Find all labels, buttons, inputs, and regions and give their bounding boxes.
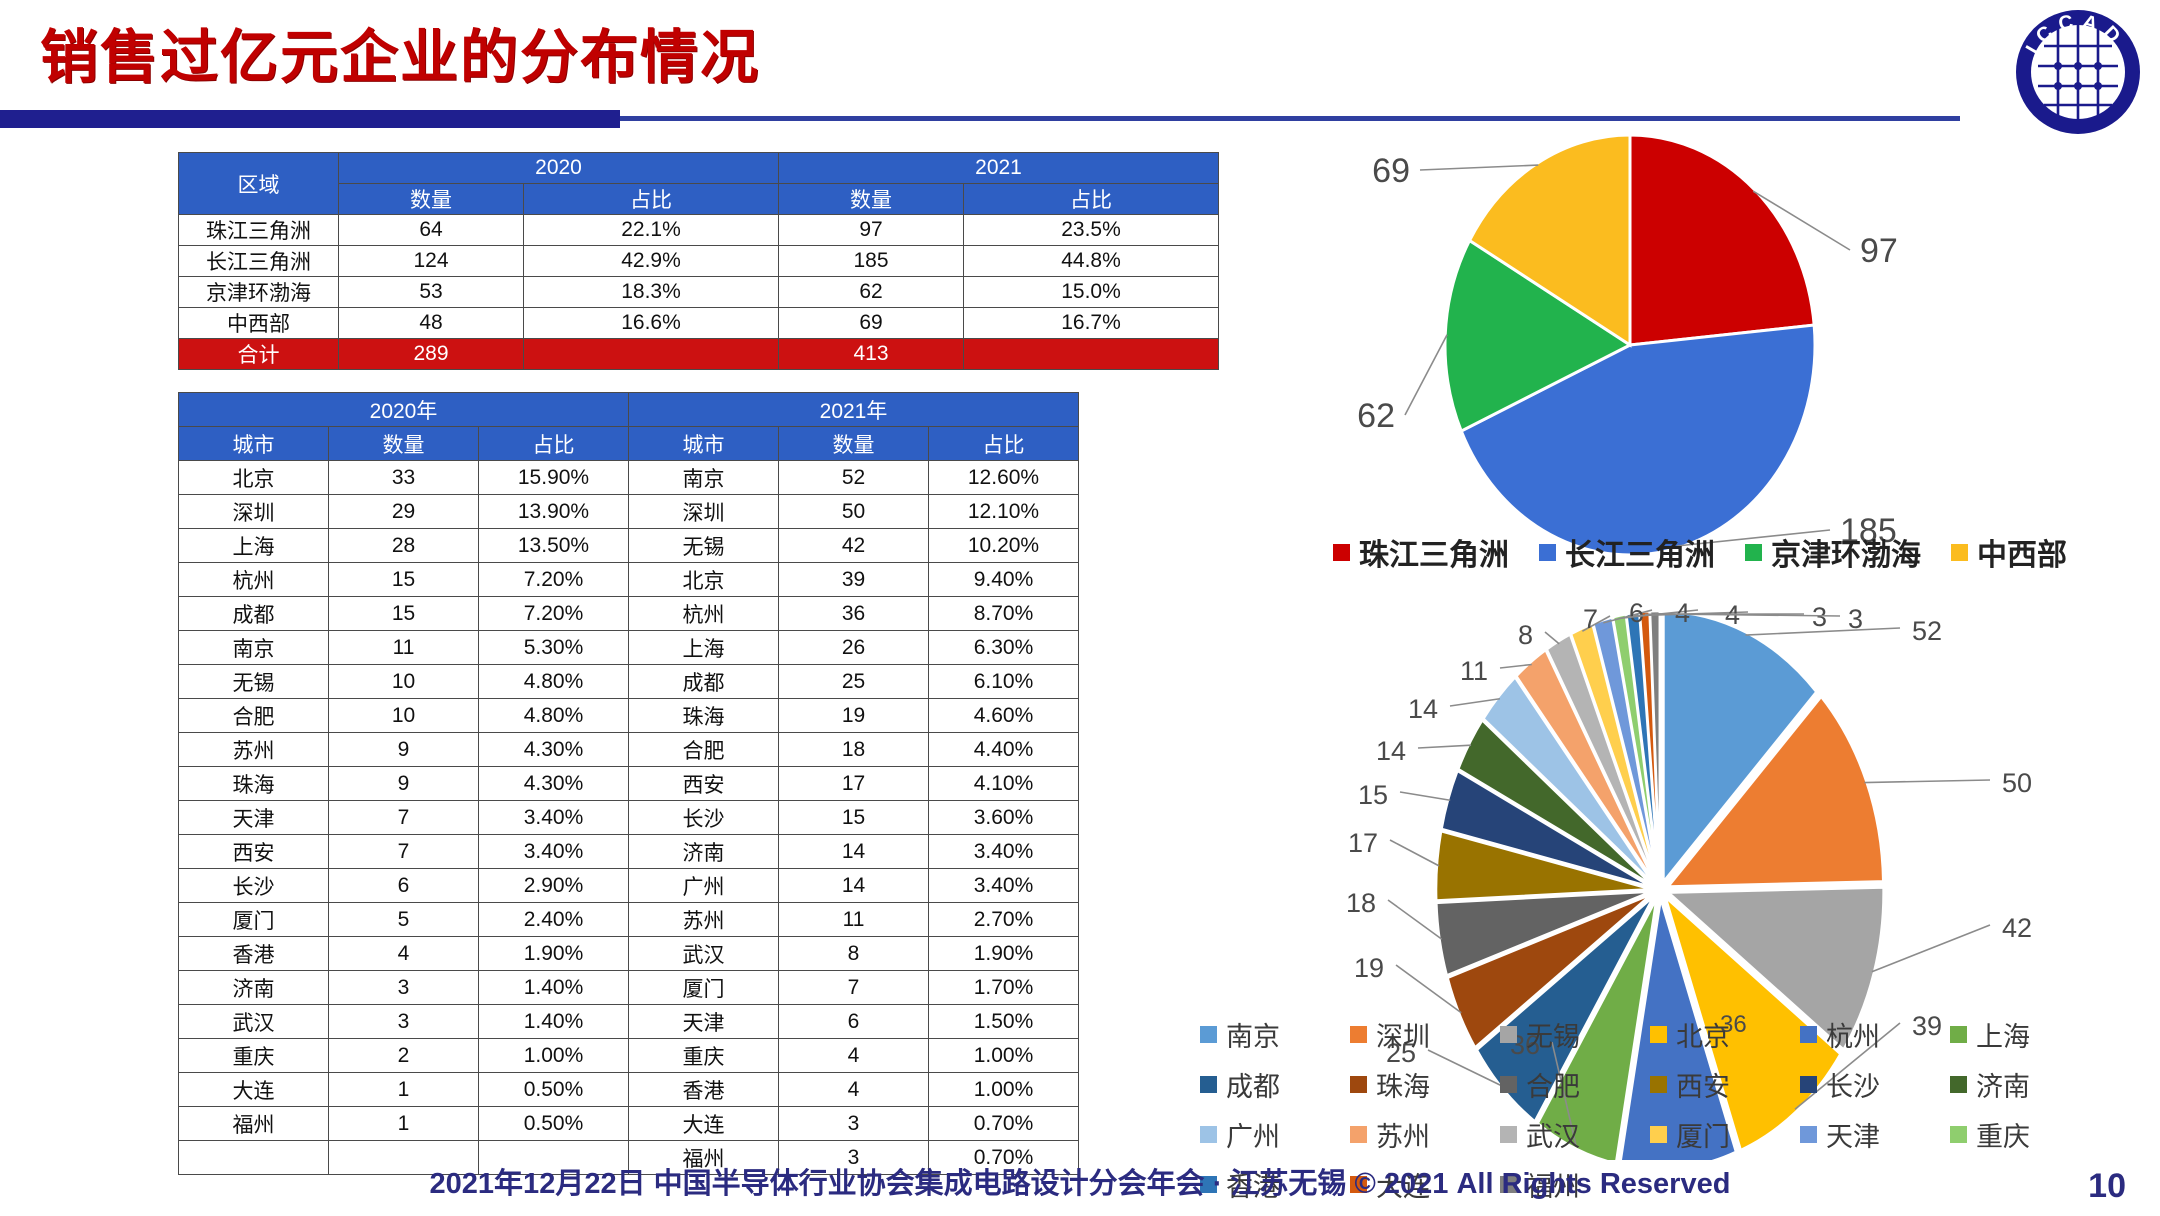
cell-pct20: 13.50% <box>479 529 629 563</box>
cell-pct20: 7.20% <box>479 563 629 597</box>
cell-pct21: 1.50% <box>929 1005 1079 1039</box>
th-count-2021: 数量 <box>779 184 964 215</box>
pie-value-label: 4 <box>1675 598 1690 628</box>
legend-label: 无锡 <box>1526 1015 1580 1054</box>
pie-value-label: 18 <box>1346 888 1376 918</box>
cell-p2021: 15.0% <box>964 277 1219 308</box>
cell-pct20: 15.90% <box>479 461 629 495</box>
cell-city21: 北京 <box>629 563 779 597</box>
table-row: 济南31.40%厦门71.70% <box>179 971 1079 1005</box>
cell-region: 长江三角洲 <box>179 246 339 277</box>
cell-num20: 3 <box>329 1005 479 1039</box>
pie-slice <box>1630 135 1814 345</box>
th-share-2021: 占比 <box>964 184 1219 215</box>
table-row: 合肥104.80%珠海194.60% <box>179 699 1079 733</box>
cell-city20: 杭州 <box>179 563 329 597</box>
th-2021-year: 2021年 <box>629 393 1079 427</box>
cell-city20: 厦门 <box>179 903 329 937</box>
table-row: 长沙62.90%广州143.40% <box>179 869 1079 903</box>
cell-city21: 天津 <box>629 1005 779 1039</box>
cell-city21: 无锡 <box>629 529 779 563</box>
cell-city20: 福州 <box>179 1107 329 1141</box>
cell-p2021: 23.5% <box>964 215 1219 246</box>
legend-label: 合肥 <box>1526 1065 1580 1104</box>
legend-swatch-icon <box>1350 1126 1367 1143</box>
cell-num20: 6 <box>329 869 479 903</box>
legend-swatch-icon <box>1800 1026 1817 1043</box>
table-row: 重庆21.00%重庆41.00% <box>179 1039 1079 1073</box>
city-distribution-table: 2020年 2021年 城市 数量 占比 城市 数量 占比 北京3315.90%… <box>178 392 1079 1175</box>
cell-c2020: 124 <box>339 246 524 277</box>
pie-value-label: 19 <box>1354 953 1384 983</box>
cell-c2021: 97 <box>779 215 964 246</box>
cell-pct21: 6.10% <box>929 665 1079 699</box>
cell-pct21: 10.20% <box>929 529 1079 563</box>
cell-city20: 武汉 <box>179 1005 329 1039</box>
cell-city21: 香港 <box>629 1073 779 1107</box>
cell-num20: 5 <box>329 903 479 937</box>
cell-pct21: 12.60% <box>929 461 1079 495</box>
legend-label: 中西部 <box>1977 530 2067 574</box>
legend-label: 南京 <box>1226 1015 1280 1054</box>
cell-city21: 杭州 <box>629 597 779 631</box>
cell-num20: 3 <box>329 971 479 1005</box>
table-row: 苏州94.30%合肥184.40% <box>179 733 1079 767</box>
legend-label: 长沙 <box>1826 1065 1880 1104</box>
legend-swatch-icon <box>1500 1076 1517 1093</box>
cell-num20: 11 <box>329 631 479 665</box>
region-legend-item: 京津环渤海 <box>1745 530 1921 574</box>
city-legend-item: 西安 <box>1650 1065 1774 1104</box>
region-pie-legend: 珠江三角洲长江三角洲京津环渤海中西部 <box>1250 530 2150 574</box>
legend-swatch-icon <box>1950 1076 1967 1093</box>
total-c2020: 289 <box>339 339 524 370</box>
city-legend-item: 重庆 <box>1950 1115 2074 1154</box>
legend-swatch-icon <box>1350 1026 1367 1043</box>
cell-city21: 合肥 <box>629 733 779 767</box>
pie-leader-line <box>1405 335 1447 415</box>
region-legend-item: 珠江三角洲 <box>1333 530 1509 574</box>
pie-value-label: 69 <box>1372 152 1410 190</box>
table-row: 大连10.50%香港41.00% <box>179 1073 1079 1107</box>
cell-c2020: 64 <box>339 215 524 246</box>
cell-num21: 8 <box>779 937 929 971</box>
pie-value-label: 11 <box>1460 656 1488 686</box>
pie-value-label: 17 <box>1348 828 1378 858</box>
cell-num21: 14 <box>779 869 929 903</box>
city-legend-item: 济南 <box>1950 1065 2074 1104</box>
table-row: 成都157.20%杭州368.70% <box>179 597 1079 631</box>
cell-region: 珠江三角洲 <box>179 215 339 246</box>
cell-pct21: 1.90% <box>929 937 1079 971</box>
cell-num21: 11 <box>779 903 929 937</box>
cell-city21: 苏州 <box>629 903 779 937</box>
legend-swatch-icon <box>1200 1126 1217 1143</box>
cell-city20: 苏州 <box>179 733 329 767</box>
legend-label: 广州 <box>1226 1115 1280 1154</box>
cell-city20: 珠海 <box>179 767 329 801</box>
th-2020: 2020 <box>339 153 779 184</box>
pie-leader-line <box>1418 745 1471 748</box>
cell-city20: 北京 <box>179 461 329 495</box>
table-row: 中西部4816.6%6916.7% <box>179 308 1219 339</box>
pie-value-label: 50 <box>2002 768 2032 798</box>
footer-text: 2021年12月22日 中国半导体行业协会集成电路设计分会年会 · 江苏无锡 ©… <box>0 1160 2160 1202</box>
cell-num21: 14 <box>779 835 929 869</box>
cell-city20: 合肥 <box>179 699 329 733</box>
cell-city21: 成都 <box>629 665 779 699</box>
city-legend-item: 北京 <box>1650 1015 1774 1054</box>
cell-city20: 上海 <box>179 529 329 563</box>
cell-region: 京津环渤海 <box>179 277 339 308</box>
cell-num20: 15 <box>329 563 479 597</box>
city-legend-item: 长沙 <box>1800 1065 1924 1104</box>
th-pct-2020: 占比 <box>479 427 629 461</box>
cell-city21: 济南 <box>629 835 779 869</box>
page-title: 销售过亿元企业的分布情况 <box>40 10 760 94</box>
legend-swatch-icon <box>1950 1126 1967 1143</box>
legend-swatch-icon <box>1951 544 1968 561</box>
cell-pct20: 3.40% <box>479 801 629 835</box>
cell-pct21: 12.10% <box>929 495 1079 529</box>
city-legend-item: 厦门 <box>1650 1115 1774 1154</box>
table-row: 京津环渤海5318.3%6215.0% <box>179 277 1219 308</box>
th-num-2021: 数量 <box>779 427 929 461</box>
cell-pct20: 0.50% <box>479 1073 629 1107</box>
th-pct-2021: 占比 <box>929 427 1079 461</box>
cell-num21: 3 <box>779 1107 929 1141</box>
cell-pct20: 3.40% <box>479 835 629 869</box>
legend-swatch-icon <box>1500 1126 1517 1143</box>
cell-pct21: 1.00% <box>929 1039 1079 1073</box>
cell-pct21: 6.30% <box>929 631 1079 665</box>
city-legend-item: 苏州 <box>1350 1115 1474 1154</box>
pie-leader-line <box>1545 632 1559 644</box>
table-row: 西安73.40%济南143.40% <box>179 835 1079 869</box>
cell-num21: 36 <box>779 597 929 631</box>
legend-label: 珠海 <box>1376 1065 1430 1104</box>
cell-city20: 西安 <box>179 835 329 869</box>
table-row: 厦门52.40%苏州112.70% <box>179 903 1079 937</box>
city-legend-item: 无锡 <box>1500 1015 1624 1054</box>
total-label: 合计 <box>179 339 339 370</box>
table-row: 上海2813.50%无锡4210.20% <box>179 529 1079 563</box>
cell-num21: 39 <box>779 563 929 597</box>
cell-p2020: 18.3% <box>524 277 779 308</box>
cell-num21: 19 <box>779 699 929 733</box>
cell-c2021: 69 <box>779 308 964 339</box>
cell-city21: 广州 <box>629 869 779 903</box>
pie-value-label: 3 <box>1812 602 1827 632</box>
slide-canvas: 销售过亿元企业的分布情况 ICCAD 区域 2020 <box>0 0 2160 1216</box>
th-num-2020: 数量 <box>329 427 479 461</box>
title-underline-thick <box>0 110 620 128</box>
cell-pct20: 4.30% <box>479 733 629 767</box>
legend-label: 成都 <box>1226 1065 1280 1104</box>
cell-city21: 深圳 <box>629 495 779 529</box>
cell-city20: 长沙 <box>179 869 329 903</box>
cell-pct21: 4.60% <box>929 699 1079 733</box>
legend-label: 杭州 <box>1826 1015 1880 1054</box>
table-row: 深圳2913.90%深圳5012.10% <box>179 495 1079 529</box>
legend-label: 重庆 <box>1976 1115 2030 1154</box>
region-distribution-table: 区域 2020 2021 数量 占比 数量 占比 珠江三角洲6422.1%972… <box>178 152 1219 370</box>
city-legend-item: 天津 <box>1800 1115 1924 1154</box>
cell-city21: 珠海 <box>629 699 779 733</box>
legend-swatch-icon <box>1333 544 1350 561</box>
page-number: 10 <box>2088 1167 2126 1206</box>
cell-city21: 厦门 <box>629 971 779 1005</box>
cell-num20: 33 <box>329 461 479 495</box>
legend-label: 长江三角洲 <box>1565 530 1715 574</box>
table-row: 珠江三角洲6422.1%9723.5% <box>179 215 1219 246</box>
cell-pct21: 4.10% <box>929 767 1079 801</box>
cell-city21: 武汉 <box>629 937 779 971</box>
cell-pct20: 5.30% <box>479 631 629 665</box>
cell-num21: 52 <box>779 461 929 495</box>
legend-swatch-icon <box>1650 1126 1667 1143</box>
table-row: 无锡104.80%成都256.10% <box>179 665 1079 699</box>
th-city-2020: 城市 <box>179 427 329 461</box>
cell-p2020: 16.6% <box>524 308 779 339</box>
cell-num21: 7 <box>779 971 929 1005</box>
pie-value-label: 6 <box>1629 598 1644 628</box>
pie-value-label: 15 <box>1358 780 1388 810</box>
th-count-2020: 数量 <box>339 184 524 215</box>
total-c2021: 413 <box>779 339 964 370</box>
cell-pct20: 4.80% <box>479 665 629 699</box>
pie-leader-line <box>1388 900 1442 939</box>
cell-pct20: 0.50% <box>479 1107 629 1141</box>
table-subheader-row: 城市 数量 占比 城市 数量 占比 <box>179 427 1079 461</box>
legend-swatch-icon <box>1950 1026 1967 1043</box>
table-row: 南京115.30%上海266.30% <box>179 631 1079 665</box>
th-share-2020: 占比 <box>524 184 779 215</box>
cell-pct20: 13.90% <box>479 495 629 529</box>
th-city-2021: 城市 <box>629 427 779 461</box>
city-legend-item: 深圳 <box>1350 1015 1474 1054</box>
city-legend-item: 武汉 <box>1500 1115 1624 1154</box>
pie-value-label: 42 <box>2002 913 2032 943</box>
cell-pct20: 1.40% <box>479 1005 629 1039</box>
cell-num20: 9 <box>329 733 479 767</box>
title-underline-thin <box>620 116 1960 121</box>
pie-value-label: 14 <box>1376 736 1406 766</box>
pie-value-label: 97 <box>1860 232 1898 270</box>
city-legend-item: 南京 <box>1200 1015 1324 1054</box>
cell-pct21: 1.00% <box>929 1073 1079 1107</box>
table-total-row: 合计289413 <box>179 339 1219 370</box>
pie-value-label: 3 <box>1848 604 1863 634</box>
legend-label: 北京 <box>1676 1015 1730 1054</box>
cell-p2020: 22.1% <box>524 215 779 246</box>
cell-num21: 4 <box>779 1039 929 1073</box>
cell-num20: 1 <box>329 1073 479 1107</box>
legend-swatch-icon <box>1350 1076 1367 1093</box>
pie-value-label: 52 <box>1912 616 1942 646</box>
cell-num20: 10 <box>329 665 479 699</box>
cell-num21: 17 <box>779 767 929 801</box>
legend-swatch-icon <box>1200 1076 1217 1093</box>
legend-swatch-icon <box>1200 1026 1217 1043</box>
cell-city20: 香港 <box>179 937 329 971</box>
region-pie-chart: 971856269 <box>1230 130 2150 590</box>
legend-label: 厦门 <box>1676 1115 1730 1154</box>
cell-pct20: 2.90% <box>479 869 629 903</box>
th-region: 区域 <box>179 153 339 215</box>
pie-leader-line <box>1420 165 1538 170</box>
cell-city21: 重庆 <box>629 1039 779 1073</box>
cell-city20: 天津 <box>179 801 329 835</box>
total-p2021 <box>964 339 1219 370</box>
cell-pct20: 4.30% <box>479 767 629 801</box>
total-p2020 <box>524 339 779 370</box>
cell-pct20: 1.40% <box>479 971 629 1005</box>
pie-leader-line <box>1400 792 1450 800</box>
cell-city20: 成都 <box>179 597 329 631</box>
cell-num20: 10 <box>329 699 479 733</box>
cell-p2021: 16.7% <box>964 308 1219 339</box>
legend-swatch-icon <box>1800 1126 1817 1143</box>
cell-pct21: 1.70% <box>929 971 1079 1005</box>
legend-label: 深圳 <box>1376 1015 1430 1054</box>
cell-city21: 南京 <box>629 461 779 495</box>
cell-num20: 29 <box>329 495 479 529</box>
table-header-row: 区域 2020 2021 <box>179 153 1219 184</box>
cell-num21: 18 <box>779 733 929 767</box>
city-legend-item: 成都 <box>1200 1065 1324 1104</box>
cell-pct20: 7.20% <box>479 597 629 631</box>
legend-label: 济南 <box>1976 1065 2030 1104</box>
legend-label: 武汉 <box>1526 1115 1580 1154</box>
cell-city21: 西安 <box>629 767 779 801</box>
cell-num21: 42 <box>779 529 929 563</box>
cell-city20: 重庆 <box>179 1039 329 1073</box>
city-legend-item: 上海 <box>1950 1015 2074 1054</box>
cell-num21: 4 <box>779 1073 929 1107</box>
cell-num21: 25 <box>779 665 929 699</box>
cell-c2021: 62 <box>779 277 964 308</box>
pie-value-label: 62 <box>1357 397 1395 435</box>
cell-city20: 南京 <box>179 631 329 665</box>
table-header-row: 2020年 2021年 <box>179 393 1079 427</box>
cell-num21: 15 <box>779 801 929 835</box>
cell-c2020: 48 <box>339 308 524 339</box>
legend-label: 上海 <box>1976 1015 2030 1054</box>
region-legend-item: 中西部 <box>1951 530 2067 574</box>
cell-num21: 50 <box>779 495 929 529</box>
table-row: 北京3315.90%南京5212.60% <box>179 461 1079 495</box>
cell-region: 中西部 <box>179 308 339 339</box>
cell-p2020: 42.9% <box>524 246 779 277</box>
cell-pct20: 2.40% <box>479 903 629 937</box>
cell-pct20: 1.00% <box>479 1039 629 1073</box>
cell-city20: 济南 <box>179 971 329 1005</box>
pie-value-label: 8 <box>1518 620 1533 650</box>
cell-num20: 2 <box>329 1039 479 1073</box>
cell-pct21: 8.70% <box>929 597 1079 631</box>
city-legend-item: 杭州 <box>1800 1015 1924 1054</box>
table-row: 杭州157.20%北京399.40% <box>179 563 1079 597</box>
table-row: 珠海94.30%西安174.10% <box>179 767 1079 801</box>
cell-pct21: 3.40% <box>929 869 1079 903</box>
cell-pct21: 9.40% <box>929 563 1079 597</box>
pie-leader-line <box>1864 780 1990 783</box>
legend-label: 京津环渤海 <box>1771 530 1921 574</box>
cell-num20: 1 <box>329 1107 479 1141</box>
legend-label: 苏州 <box>1376 1115 1430 1154</box>
pie-leader-line <box>1872 925 1990 972</box>
table-row: 长江三角洲12442.9%18544.8% <box>179 246 1219 277</box>
table-row: 天津73.40%长沙153.60% <box>179 801 1079 835</box>
table-row: 香港41.90%武汉81.90% <box>179 937 1079 971</box>
legend-label: 西安 <box>1676 1065 1730 1104</box>
cell-city20: 深圳 <box>179 495 329 529</box>
table-row: 福州10.50%大连30.70% <box>179 1107 1079 1141</box>
legend-swatch-icon <box>1745 544 1762 561</box>
th-2020-year: 2020年 <box>179 393 629 427</box>
cell-num20: 4 <box>329 937 479 971</box>
cell-num20: 9 <box>329 767 479 801</box>
city-legend-item: 广州 <box>1200 1115 1324 1154</box>
th-2021: 2021 <box>779 153 1219 184</box>
legend-label: 珠江三角洲 <box>1359 530 1509 574</box>
cell-p2021: 44.8% <box>964 246 1219 277</box>
cell-pct21: 0.70% <box>929 1107 1079 1141</box>
legend-swatch-icon <box>1800 1076 1817 1093</box>
cell-city21: 上海 <box>629 631 779 665</box>
cell-num20: 7 <box>329 801 479 835</box>
cell-num20: 7 <box>329 835 479 869</box>
city-legend-item: 合肥 <box>1500 1065 1624 1104</box>
cell-pct21: 3.60% <box>929 801 1079 835</box>
cell-pct21: 3.40% <box>929 835 1079 869</box>
cell-c2020: 53 <box>339 277 524 308</box>
cell-num21: 6 <box>779 1005 929 1039</box>
cell-city20: 无锡 <box>179 665 329 699</box>
cell-c2021: 185 <box>779 246 964 277</box>
legend-label: 天津 <box>1826 1115 1880 1154</box>
pie-value-label: 14 <box>1408 694 1438 724</box>
cell-num20: 28 <box>329 529 479 563</box>
legend-swatch-icon <box>1500 1026 1517 1043</box>
cell-city20: 大连 <box>179 1073 329 1107</box>
cell-pct21: 4.40% <box>929 733 1079 767</box>
legend-swatch-icon <box>1650 1026 1667 1043</box>
pie-value-label: 7 <box>1583 604 1598 634</box>
cell-pct21: 2.70% <box>929 903 1079 937</box>
iccad-logo-icon: ICCAD <box>2014 8 2142 136</box>
cell-city21: 长沙 <box>629 801 779 835</box>
city-legend-item: 珠海 <box>1350 1065 1474 1104</box>
legend-swatch-icon <box>1650 1076 1667 1093</box>
cell-num20: 15 <box>329 597 479 631</box>
pie-leader-line <box>1390 840 1439 866</box>
region-legend-item: 长江三角洲 <box>1539 530 1715 574</box>
legend-swatch-icon <box>1539 544 1556 561</box>
cell-pct20: 1.90% <box>479 937 629 971</box>
cell-num21: 26 <box>779 631 929 665</box>
cell-city21: 大连 <box>629 1107 779 1141</box>
cell-pct20: 4.80% <box>479 699 629 733</box>
table-row: 武汉31.40%天津61.50% <box>179 1005 1079 1039</box>
